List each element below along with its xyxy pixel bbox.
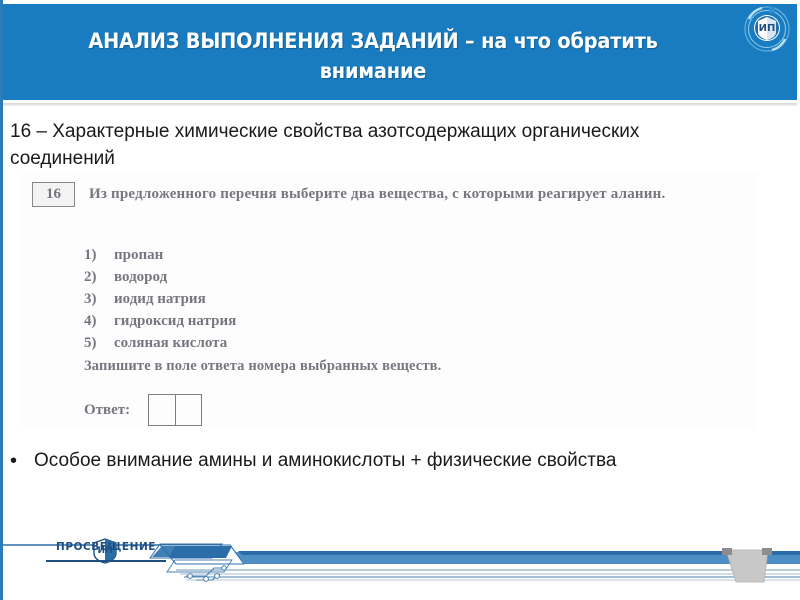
list-item: 2) водород xyxy=(84,266,236,288)
exam-task-scan-image: 16 Из предложенного перечня выберите два… xyxy=(22,172,757,430)
option-label: соляная кислота xyxy=(114,332,227,354)
answer-label: Ответ: xyxy=(84,402,130,419)
task-prompt-text: Из предложенного перечня выберите два ве… xyxy=(89,182,719,206)
option-label: гидроксид натрия xyxy=(114,310,236,332)
footer-logo: ПРОСВЕЩЕНИЕ xyxy=(36,540,176,553)
answer-boxes xyxy=(148,394,202,426)
prosveshchenie-circular-emblem-icon: ИП xyxy=(742,4,792,54)
slide-heading: 16 – Характерные химические свойства азо… xyxy=(10,118,710,172)
left-accent-rail xyxy=(0,0,3,600)
slide-footer: ИП ПРОСВЕЩЕНИЕ xyxy=(0,524,800,600)
bullet-marker: • xyxy=(10,446,34,476)
list-item: 1) пропан xyxy=(84,244,236,266)
banner-underline-divider xyxy=(3,103,797,106)
option-number: 4) xyxy=(84,310,114,332)
bullet-text: Особое внимание амины и аминокислоты + ф… xyxy=(34,446,734,476)
list-item: 3) иодид натрия xyxy=(84,288,236,310)
list-item: 5) соляная кислота xyxy=(84,332,236,354)
option-number: 5) xyxy=(84,332,114,354)
footer-logo-rule xyxy=(46,560,166,562)
option-number: 3) xyxy=(84,288,114,310)
task-options-list: 1) пропан 2) водород 3) иодид натрия 4) … xyxy=(84,244,236,354)
svg-text:ИП: ИП xyxy=(759,23,776,34)
task-prompt-row: 16 Из предложенного перечня выберите два… xyxy=(32,182,719,207)
title-banner: АНАЛИЗ ВЫПОЛНЕНИЯ ЗАДАНИЙ – на что обрат… xyxy=(3,4,797,100)
footer-logo-label: ПРОСВЕЩЕНИЕ xyxy=(40,540,173,553)
answer-cell xyxy=(175,395,201,425)
task-number-box: 16 xyxy=(32,182,75,207)
option-number: 2) xyxy=(84,266,114,288)
page-title: АНАЛИЗ ВЫПОЛНЕНИЯ ЗАДАНИЙ – на что обрат… xyxy=(74,26,672,86)
option-label: иодид натрия xyxy=(114,288,206,310)
option-number: 1) xyxy=(84,244,114,266)
option-label: пропан xyxy=(114,244,163,266)
answer-field-row: Ответ: xyxy=(84,394,202,426)
slide-bullet: • Особое внимание амины и аминокислоты +… xyxy=(10,446,750,476)
task-answer-instruction: Запишите в поле ответа номера выбранных … xyxy=(84,358,441,375)
option-label: водород xyxy=(114,266,167,288)
answer-cell xyxy=(149,395,175,425)
list-item: 4) гидроксид натрия xyxy=(84,310,236,332)
